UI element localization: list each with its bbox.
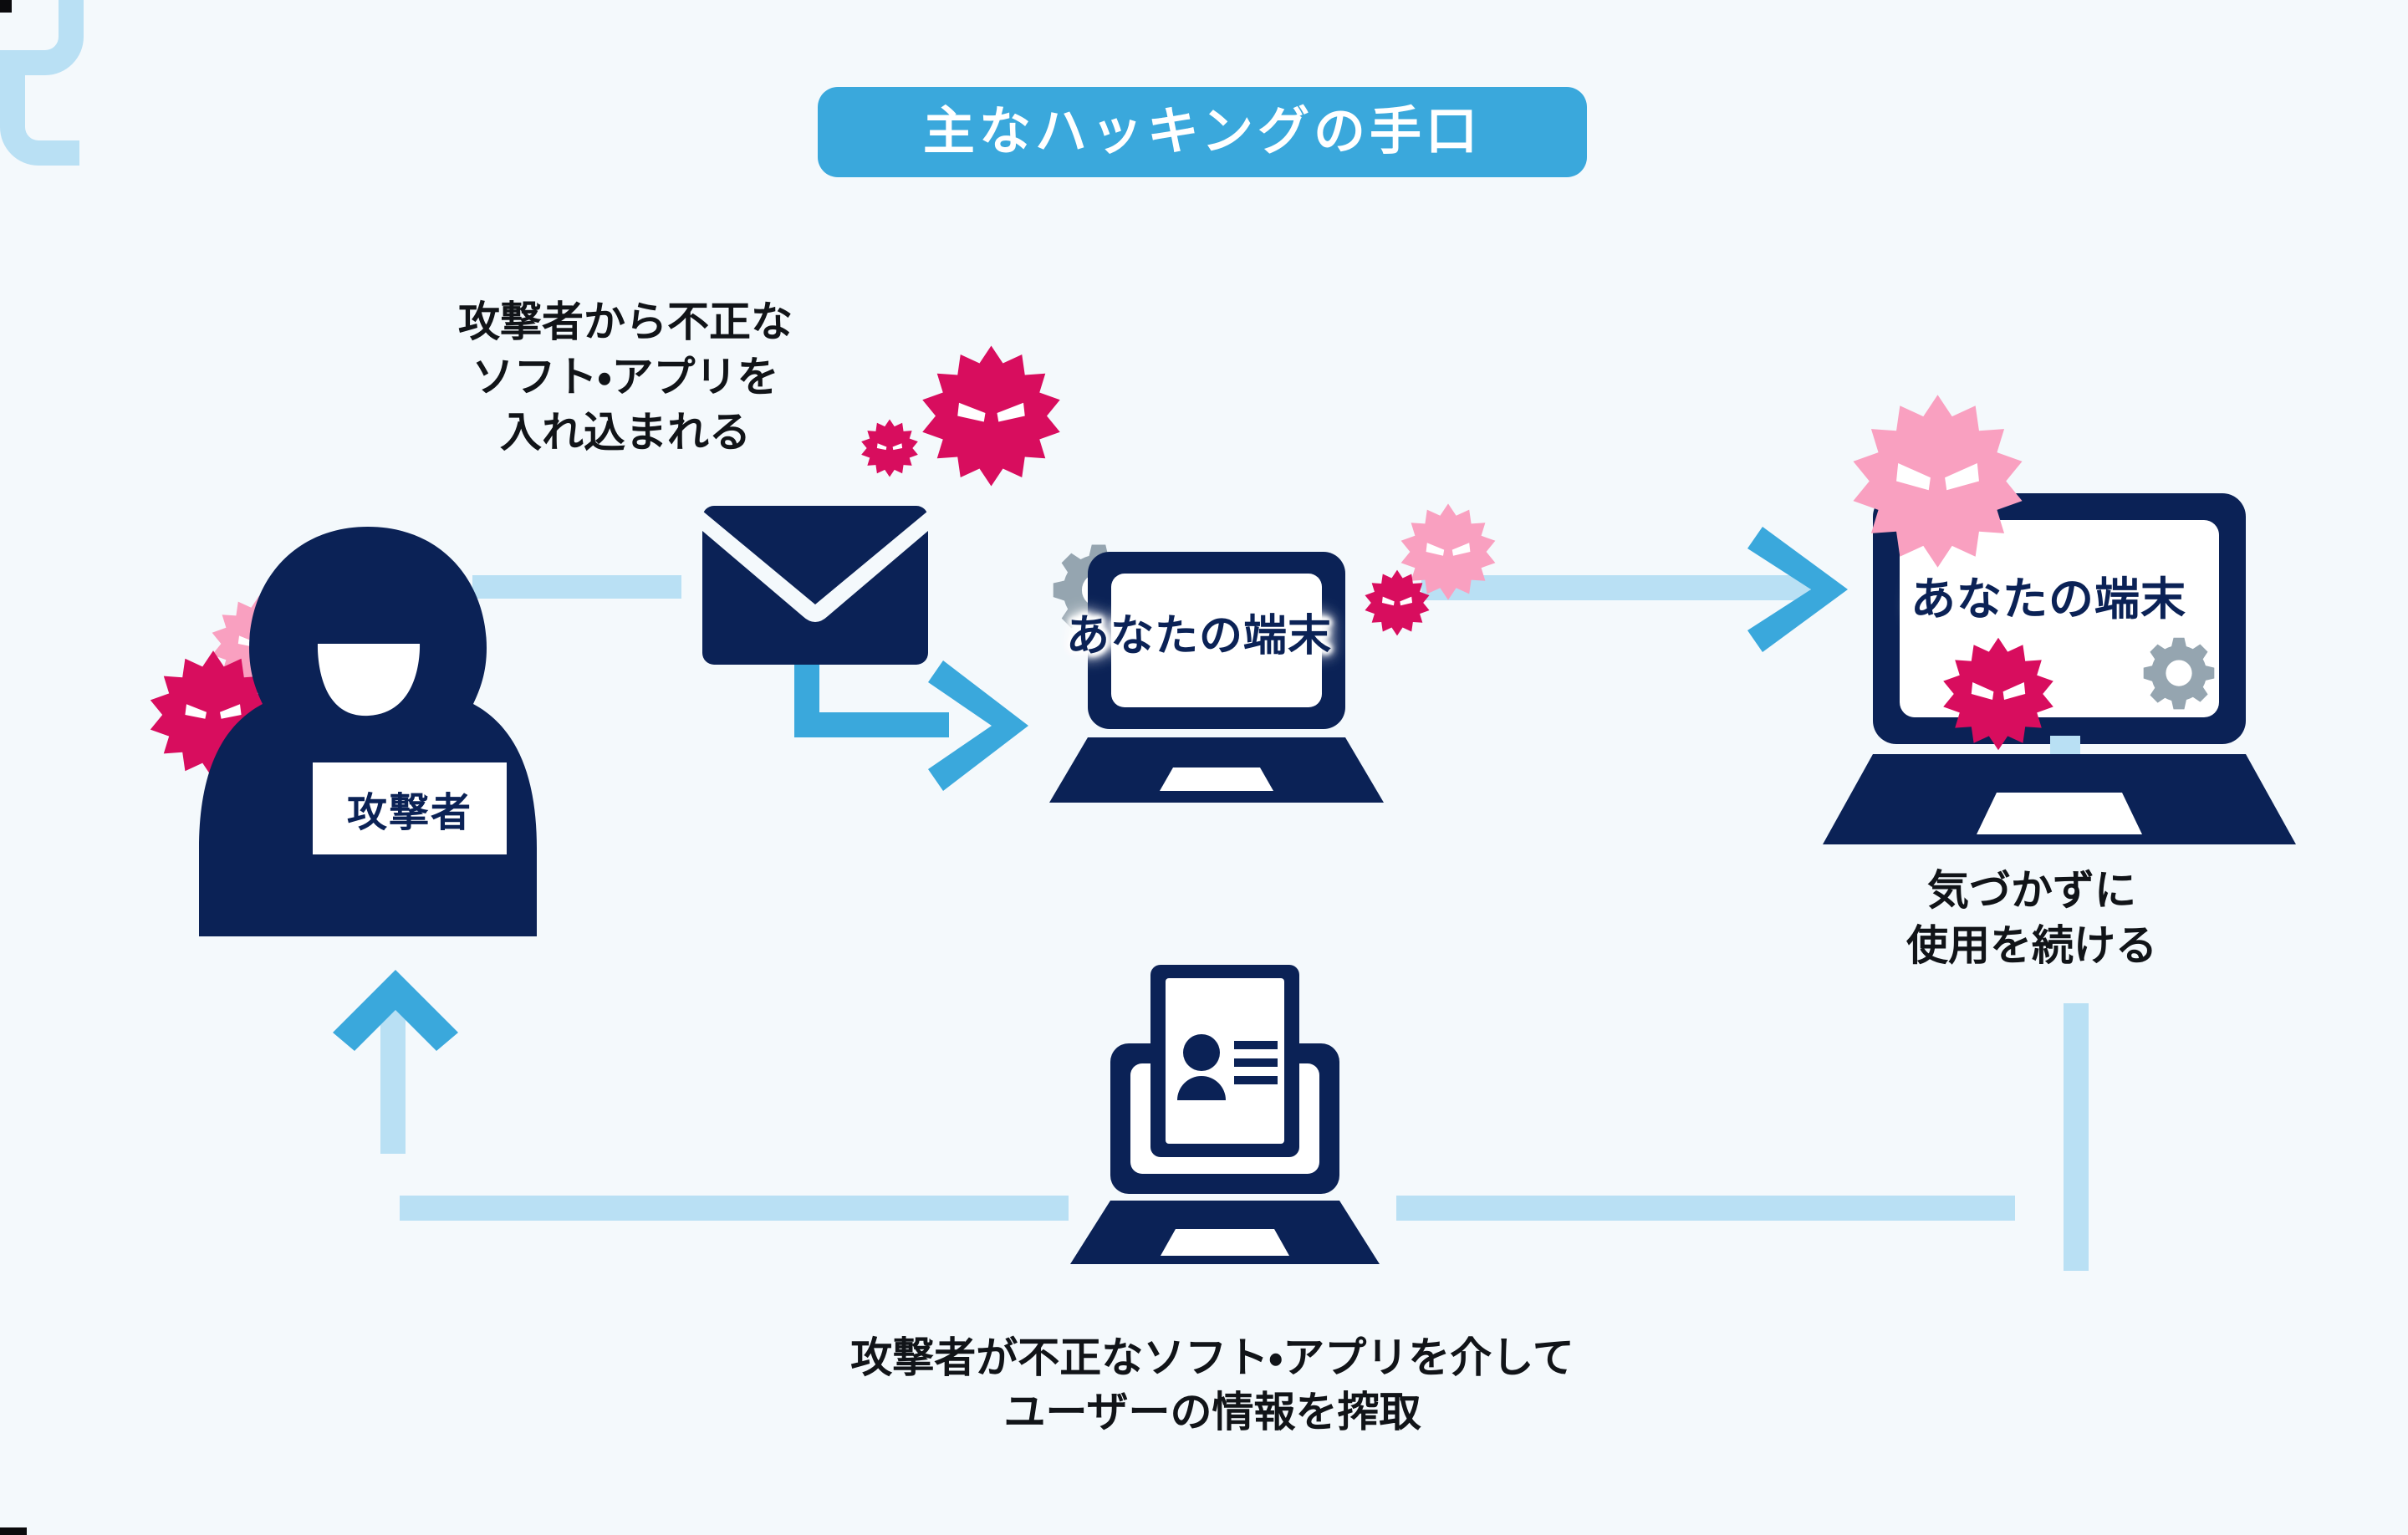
device-middle-screen-label: あなたの端末 xyxy=(1066,600,1332,663)
corner-artifact-top-left xyxy=(0,0,12,13)
hacker-hooded-figure-icon xyxy=(192,518,543,936)
corner-artifact-bottom-left xyxy=(0,1527,27,1535)
virus-icon xyxy=(1940,635,2057,752)
connector-left-corner xyxy=(0,75,79,166)
virus-icon xyxy=(1363,569,1431,637)
hacker-figure: 攻撃者 xyxy=(192,518,543,936)
device-data-exfiltration xyxy=(1070,953,1380,1279)
arrowhead-to-hacker xyxy=(333,970,458,1062)
arrowhead-to-device-middle xyxy=(928,660,1028,791)
virus-icon xyxy=(860,418,920,478)
caption-data-theft: 攻撃者が不正なソフト・アプリを介して ユーザーの情報を搾取 xyxy=(686,1331,1739,1440)
envelope-icon xyxy=(702,506,928,665)
hacker-badge-label: 攻撃者 xyxy=(347,779,472,838)
laptop-with-id-card-icon xyxy=(1070,953,1380,1279)
device-right-screen-label: あなたの端末 xyxy=(1911,562,2186,628)
hacker-badge: 攻撃者 xyxy=(313,762,507,854)
connector-right-vertical xyxy=(2064,1003,2089,1271)
caption-continue-using: 気づかずに 使用を続ける xyxy=(1823,863,2241,973)
caption-infection: 攻撃者から不正な ソフト・アプリを 入れ込まれる xyxy=(391,294,860,460)
device-middle xyxy=(1049,552,1384,803)
page-title-pill: 主なハッキングの手口 xyxy=(818,87,1587,177)
connector-right-corner xyxy=(0,0,84,75)
virus-icon xyxy=(1848,391,2028,571)
page-title: 主なハッキングの手口 xyxy=(923,106,1482,158)
envelope-mail xyxy=(702,506,928,665)
laptop-icon xyxy=(1049,552,1384,803)
virus-icon xyxy=(918,343,1064,489)
gear-icon xyxy=(2140,635,2217,712)
connector-bottom-right-segment xyxy=(1396,1196,2015,1221)
connector-bottom-left-segment xyxy=(400,1196,1069,1221)
infographic-canvas: 主なハッキングの手口 攻撃者から不正な ソフト・アプリを 入れ込まれる 気づかず… xyxy=(0,0,2408,1535)
